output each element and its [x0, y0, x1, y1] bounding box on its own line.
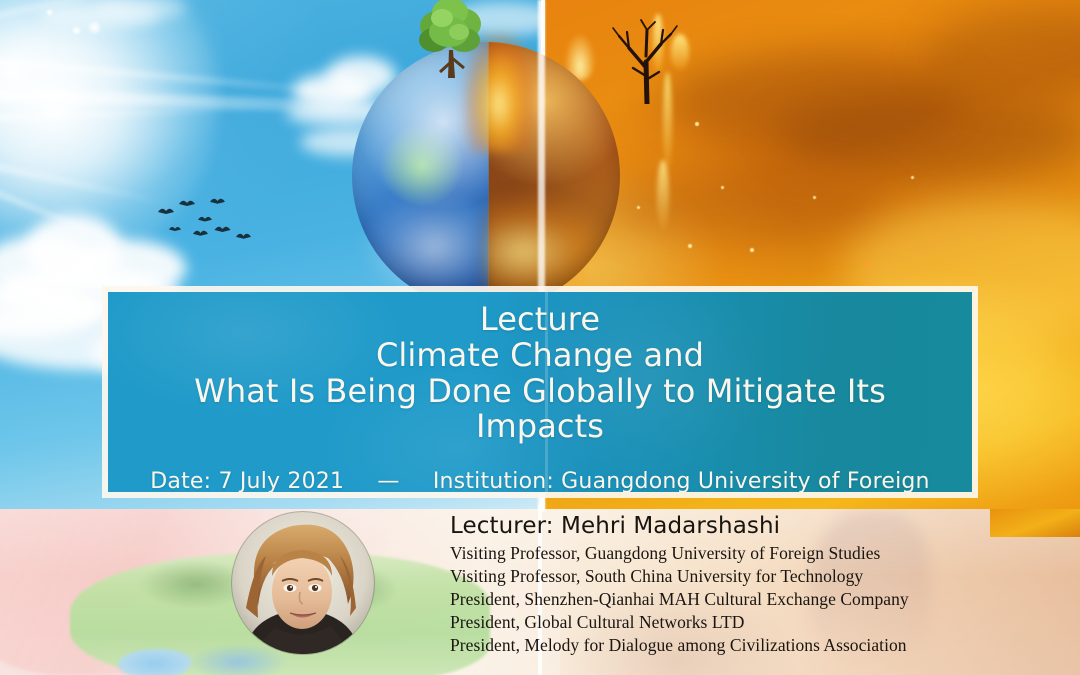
bird-icon [158, 206, 174, 214]
title-banner-frame: Lecture Climate Change and What Is Being… [102, 286, 978, 498]
credential-item: Visiting Professor, South China Universi… [450, 565, 1010, 588]
ember-icon [813, 196, 816, 199]
title-banner: Lecture Climate Change and What Is Being… [108, 292, 972, 492]
event-date: Date: 7 July 2021 [150, 469, 344, 492]
credential-item: President, Melody for Dialogue among Civ… [450, 634, 1010, 657]
split-globe-illustration [352, 42, 620, 310]
dead-tree-icon [607, 18, 683, 104]
event-institution: Institution: Guangdong University of For… [433, 469, 930, 492]
bird-icon [169, 224, 181, 232]
lecturer-details: Lecturer: Mehri Madarshashi Visiting Pro… [450, 513, 1010, 657]
bird-icon [210, 196, 225, 204]
title-group: Lecture Climate Change and What Is Being… [108, 292, 972, 445]
ember-icon [637, 206, 640, 209]
smoke-cloud-icon [775, 96, 1080, 176]
green-tree-icon [412, 0, 490, 82]
bird-icon [193, 228, 208, 236]
ember-icon [911, 176, 914, 179]
ember-icon [688, 244, 692, 248]
meta-separator: — [351, 469, 425, 492]
event-meta: Date: 7 July 2021 — Institution: Guangdo… [108, 469, 972, 492]
bird-icon [236, 231, 251, 239]
title-line-2: Climate Change and [126, 338, 954, 374]
credential-item: President, Global Cultural Networks LTD [450, 611, 1010, 634]
lecturer-name: Lecturer: Mehri Madarshashi [450, 513, 1010, 540]
credential-list: Visiting Professor, Guangdong University… [450, 542, 1010, 657]
portrait-photo-icon [232, 512, 374, 654]
bird-icon [214, 224, 231, 232]
bird-icon [198, 214, 212, 222]
credential-item: President, Shenzhen-Qianhai MAH Cultural… [450, 588, 1010, 611]
credential-item: Visiting Professor, Guangdong University… [450, 542, 1010, 565]
lens-flare-icon [72, 26, 81, 35]
smoke-cloud-icon [605, 170, 885, 240]
ember-icon [721, 186, 724, 189]
lecture-poster: Lecture Climate Change and What Is Being… [0, 0, 1080, 675]
flame-icon [657, 160, 669, 230]
title-line-3: What Is Being Done Globally to Mitigate … [126, 374, 954, 446]
ember-icon [750, 248, 754, 252]
avatar [232, 512, 374, 654]
ember-icon [695, 122, 699, 126]
ember-icon [865, 262, 870, 267]
bird-icon [178, 198, 196, 206]
title-line-1: Lecture [126, 302, 954, 338]
